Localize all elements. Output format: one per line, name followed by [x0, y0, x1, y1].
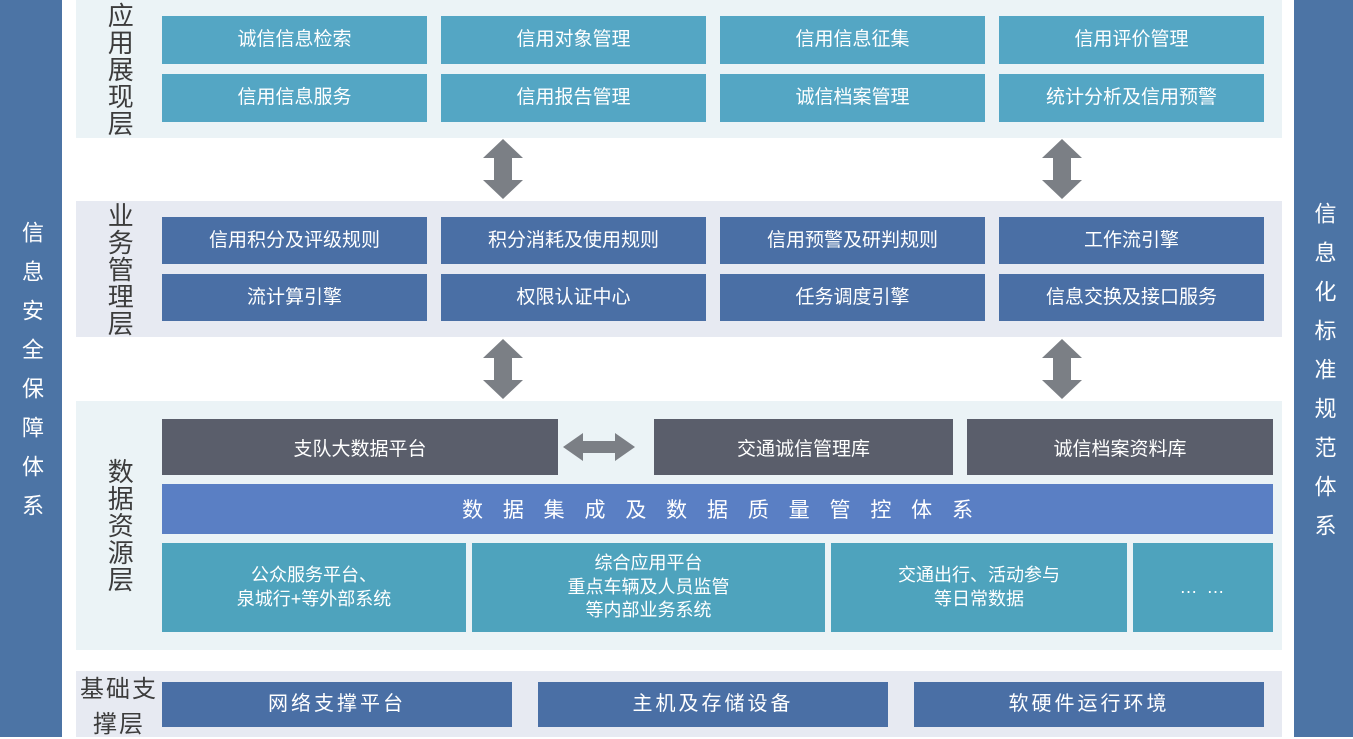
layer-body-data: 支队大数据平台 交通诚信管理库 诚信档案资料库 数 据 集 成 及 数 据 质 … [162, 401, 1291, 650]
double-arrow-vertical-icon-biz-data-right [1039, 339, 1085, 399]
layer-business-management: 业务管理层 信用积分及评级规则 积分消耗及使用规则 信用预警及研判规则 工作流引… [76, 201, 1282, 337]
db-box-traffic-credit-database[interactable]: 交通诚信管理库 [654, 419, 953, 475]
app-box-integrity-archive-mgmt[interactable]: 诚信档案管理 [720, 74, 985, 122]
biz-box-credit-score-rules[interactable]: 信用积分及评级规则 [162, 217, 427, 264]
app-box-credit-subject-mgmt[interactable]: 信用对象管理 [441, 16, 706, 64]
app-box-credit-report-mgmt[interactable]: 信用报告管理 [441, 74, 706, 122]
layer-body-business: 信用积分及评级规则 积分消耗及使用规则 信用预警及研判规则 工作流引擎 流计算引… [162, 201, 1282, 337]
biz-box-auth-center[interactable]: 权限认证中心 [441, 274, 706, 321]
app-box-credit-info-service[interactable]: 信用信息服务 [162, 74, 427, 122]
layer-stack: 应用展现层 诚信信息检索 信用对象管理 信用信息征集 信用评价管理 信用信息服务… [76, 0, 1282, 737]
app-row-2: 信用信息服务 信用报告管理 诚信档案管理 统计分析及信用预警 [162, 74, 1264, 122]
layer-label-data: 数据资源层 [76, 401, 162, 650]
source-box-integrated-internal-systems[interactable]: 综合应用平台重点车辆及人员监管等内部业务系统 [472, 543, 825, 632]
data-source-row: 公众服务平台、泉城行+等外部系统 综合应用平台重点车辆及人员监管等内部业务系统 … [162, 543, 1273, 632]
biz-row-1: 信用积分及评级规则 积分消耗及使用规则 信用预警及研判规则 工作流引擎 [162, 217, 1264, 264]
layer-body-application: 诚信信息检索 信用对象管理 信用信息征集 信用评价管理 信用信息服务 信用报告管… [162, 0, 1282, 138]
biz-box-info-exchange-api[interactable]: 信息交换及接口服务 [999, 274, 1264, 321]
double-arrow-vertical-icon-app-biz-left [480, 139, 526, 199]
app-box-credit-info-collection[interactable]: 信用信息征集 [720, 16, 985, 64]
base-box-software-hardware[interactable]: 软硬件运行环境 [914, 682, 1264, 727]
double-arrow-vertical-icon-app-biz-right [1039, 139, 1085, 199]
app-box-statistics-and-warning[interactable]: 统计分析及信用预警 [999, 74, 1264, 122]
left-side-band-label: 信息安全保障体系 [20, 204, 42, 533]
double-arrow-vertical-icon-biz-data-left [480, 339, 526, 399]
double-arrow-horizontal-icon [558, 419, 640, 475]
right-side-band-standards: 信息化标准规范体系 [1294, 0, 1353, 737]
db-box-detachment-bigdata-platform[interactable]: 支队大数据平台 [162, 419, 558, 475]
base-row: 网络支撑平台 主机及存储设备 软硬件运行环境 [162, 682, 1282, 727]
layer-data-resource: 数据资源层 支队大数据平台 交通诚信管理库 诚信档案资料库 数 据 集 成 及 … [76, 401, 1282, 650]
left-side-band-information-security: 信息安全保障体系 [0, 0, 62, 737]
biz-box-workflow-engine[interactable]: 工作流引擎 [999, 217, 1264, 264]
biz-box-score-usage-rules[interactable]: 积分消耗及使用规则 [441, 217, 706, 264]
layer-label-business-text: 业务管理层 [106, 202, 133, 337]
layer-label-application-text: 应用展现层 [106, 2, 133, 137]
layer-application-presentation: 应用展现层 诚信信息检索 信用对象管理 信用信息征集 信用评价管理 信用信息服务… [76, 0, 1282, 138]
data-integration-quality-band: 数 据 集 成 及 数 据 质 量 管 控 体 系 [162, 484, 1273, 534]
base-box-network-platform[interactable]: 网络支撑平台 [162, 682, 512, 727]
right-side-band-label: 信息化标准规范体系 [1313, 185, 1335, 553]
architecture-diagram: 信息安全保障体系 信息化标准规范体系 应用展现层 诚信信息检索 信用对象管理 信… [0, 0, 1353, 737]
biz-row-2: 流计算引擎 权限认证中心 任务调度引擎 信息交换及接口服务 [162, 274, 1264, 321]
app-row-1: 诚信信息检索 信用对象管理 信用信息征集 信用评价管理 [162, 16, 1264, 64]
source-box-ellipsis[interactable]: … … [1133, 543, 1273, 632]
layer-label-business: 业务管理层 [76, 201, 162, 337]
db-box-integrity-archive-database[interactable]: 诚信档案资料库 [967, 419, 1273, 475]
layer-label-application: 应用展现层 [76, 0, 162, 138]
app-box-credit-info-search[interactable]: 诚信信息检索 [162, 16, 427, 64]
source-box-public-service-external[interactable]: 公众服务平台、泉城行+等外部系统 [162, 543, 466, 632]
layer-label-base: 基础支撑层 [76, 669, 162, 739]
base-box-host-storage[interactable]: 主机及存储设备 [538, 682, 888, 727]
layer-label-data-text: 数据资源层 [106, 458, 133, 593]
biz-box-warning-judgment-rules[interactable]: 信用预警及研判规则 [720, 217, 985, 264]
biz-box-stream-compute-engine[interactable]: 流计算引擎 [162, 274, 427, 321]
source-box-travel-activity-daily-data[interactable]: 交通出行、活动参与等日常数据 [831, 543, 1127, 632]
layer-infrastructure-support: 基础支撑层 网络支撑平台 主机及存储设备 软硬件运行环境 [76, 671, 1282, 737]
database-row: 支队大数据平台 交通诚信管理库 诚信档案资料库 [162, 419, 1273, 475]
app-box-credit-evaluation-mgmt[interactable]: 信用评价管理 [999, 16, 1264, 64]
biz-box-task-scheduler-engine[interactable]: 任务调度引擎 [720, 274, 985, 321]
